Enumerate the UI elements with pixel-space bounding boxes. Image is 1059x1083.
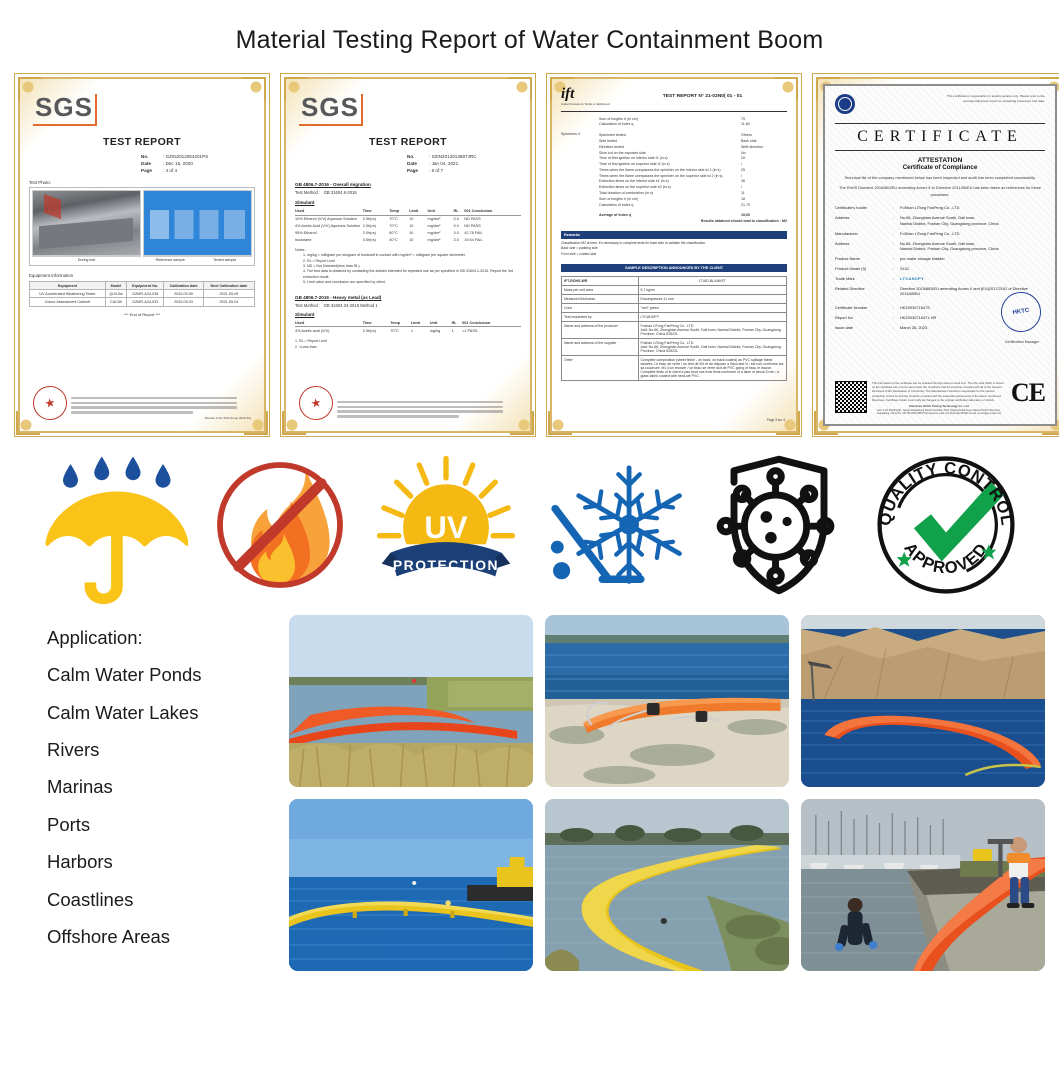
field-certificate-holder: Certificate's holder:FoShan LiTong FanPe…	[835, 205, 1045, 211]
certificate-ift-test-report[interactable]: ift Institut Francais du Textile et Habi…	[546, 73, 802, 437]
hm-r0-c6: <1 PASS	[462, 327, 521, 334]
certificate-para-2: The RoHS Directive 2015/863/EU amending …	[835, 185, 1045, 198]
mig-r0-c4: mg/dm²	[428, 215, 454, 222]
test-photo-label: Test Photo:	[29, 180, 255, 185]
feature-quality-control: QUALITY CONTROL APPROVED	[871, 455, 1021, 595]
ift-top-k1: Calculation of index q	[599, 122, 737, 126]
ift-k7: Times when the flame overpasses the spri…	[599, 174, 737, 178]
ift-v10: 11	[741, 191, 787, 195]
mig-r3-c4: mg/dm²	[428, 236, 454, 243]
hm-th-5: RL	[452, 320, 463, 327]
meta-label-no: No.	[141, 154, 163, 159]
mig-r1-c0: 4% Acetic Acid (V/V) Aqueous Solution	[295, 223, 363, 230]
hm-r0-c4: mg/kg	[430, 327, 452, 334]
certificate-ce-compliance[interactable]: This certificate is responsible for test…	[812, 73, 1059, 437]
doc-title: TEST REPORT	[295, 136, 521, 148]
migration-table: Used Time Temp Limit Unit RL 001 Conclus…	[295, 208, 521, 243]
mig-r2-c1: 2.0h(rs)	[363, 229, 389, 236]
table-row: Isooctane 0.5h(rs) 40°C 10 mg/dm² 3.0 19…	[295, 236, 521, 243]
sd-r0-c1: LT-MD-BLANKET	[638, 276, 787, 285]
ift-logo-subtitle: Institut Francais du Textile et Habillem…	[561, 103, 610, 107]
issuing-company-address: Add: 1-3/F, Building B1, Lianhe Changshe…	[872, 409, 1006, 416]
application-list: Application: Calm Water Ponds Calm Water…	[14, 615, 289, 971]
mig-r3-c3: 10	[409, 236, 427, 243]
application-item-6: Coastlines	[47, 881, 289, 918]
mig-r1-c3: 10	[409, 223, 427, 230]
sgs-logo: SGS	[299, 92, 361, 126]
mig-th-2: Temp	[389, 208, 409, 215]
ift-k4: Time of first ignition on inferior side …	[599, 156, 737, 160]
meta-label-page: Page	[141, 168, 163, 173]
equip-th-4: Next Calibration date	[203, 282, 254, 290]
sd-r3-c0: Color	[562, 303, 639, 312]
field-label: Related Directive	[835, 286, 893, 291]
ift-v9: /	[741, 185, 787, 189]
hm-th-1: Time	[363, 320, 390, 327]
mig-r3-c2: 40°C	[389, 236, 409, 243]
test-method2-value: GB 31604.34-2016 Method 1	[324, 303, 378, 308]
meta-value-page: 4 of 4	[166, 168, 178, 173]
ift-v11: 18	[741, 197, 787, 201]
ift-v5: /	[741, 162, 787, 166]
result-note: Results obtained should lead to classifi…	[701, 219, 787, 223]
notes-block: Notes : 1. mg/kg = milligram per kilogra…	[295, 248, 521, 286]
field-value: No.66, Zhongbian Avenue South, Dali town…	[900, 241, 1045, 252]
certification-manager-label: Certification Manager	[1005, 340, 1039, 344]
waterproof-icon	[38, 444, 188, 607]
photo-during-test	[32, 190, 141, 256]
mig-th-5: RL	[454, 208, 465, 215]
table-row: Test requested byLTCANOPY	[562, 312, 787, 321]
average-value: 15,60	[741, 213, 787, 217]
table-row: Name and address of the supplierFoshan L…	[562, 338, 787, 355]
certificate-sgs-test-report-2[interactable]: SGS TEST REPORT No.: SZIN2012013887JRC D…	[280, 73, 536, 437]
note-4: 4. The test data is obtained by contacti…	[303, 269, 521, 280]
equip-th-0: Equipment	[30, 282, 106, 290]
ift-k10: Total duration of combustion (in s)	[599, 191, 737, 195]
meta-value-no: GZIN2012064201PS	[166, 154, 209, 159]
mig-th-1: Time	[363, 208, 389, 215]
equip-r0-c3: 2020-09-09	[164, 290, 204, 298]
red-seal-stamp: ★	[30, 383, 69, 422]
notes2-block: 1. RL = Report Limit 2. <Less than	[295, 339, 521, 350]
mig-r0-c2: 70°C	[389, 215, 409, 222]
sd-r4-c1: LTCANOPY	[638, 312, 787, 321]
uv-text: UV	[425, 510, 468, 545]
mig-r1-c4: mg/dm²	[428, 223, 454, 230]
field-product-name: Product Name:pvc water storage bladder	[835, 256, 1045, 262]
hm-th-0: Used	[295, 320, 363, 327]
table-row: UV Accelerated Weathering Tester QUV-Be …	[30, 290, 255, 298]
field-label: Manufacturer	[835, 231, 893, 236]
fire-retardant-icon	[205, 450, 355, 600]
uv-banner-text: PROTECTION	[393, 557, 499, 573]
remarks-bar: Remarks	[561, 231, 787, 239]
table-row: 95% Ethanol 2.0h(rs) 60°C 10 mg/dm² 3.0 …	[295, 229, 521, 236]
ltcanopy-logo: LTCANOPY	[900, 276, 924, 282]
mig-r0-c6: ND PASS	[464, 215, 521, 222]
mig-r0-c0: 10% Ethanol (V/V) Aqueous Solution	[295, 215, 363, 222]
simulant-label: Simulant	[295, 200, 521, 205]
test-method-row: Test Method : GB 31604.8-2016	[295, 190, 521, 195]
sd-r5-c1: Foshan LiTong FanPeng Co., LTD Add: No.6…	[638, 321, 787, 338]
certificate-sgs-test-report-1[interactable]: SGS TEST REPORT No.: GZIN2012064201PS Da…	[14, 73, 270, 437]
ift-k3: Slow cut on the exposed side	[599, 151, 737, 155]
sd-r0-c0: IFT-ROHS-WR	[562, 276, 639, 285]
equip-th-1: Model	[105, 282, 126, 290]
sd-r3-c1: "vert" green	[638, 303, 787, 312]
application-item-3: Marinas	[47, 768, 289, 805]
red-seal-stamp: ★	[296, 383, 335, 422]
application-item-2: Rivers	[47, 731, 289, 768]
sd-r2-c1: Encompasses 11 mm	[638, 294, 787, 303]
ift-k0: Specimen tested	[599, 133, 737, 137]
mig-r2-c5: 3.0	[454, 229, 465, 236]
sd-r1-c0: Mass per unit area	[562, 285, 639, 294]
sd-r7-c1: Complete composition (sheet finish - on …	[638, 355, 787, 380]
sample-description-bar: SAMPLE DESCRIPTION ANNOUNCED BY THE CLIE…	[561, 264, 787, 272]
footer-member-note: Member of the SGS Group (SGS SA)	[71, 416, 251, 420]
photo-caption-tested: Tested sample	[198, 257, 253, 263]
equipment-label: Equipment Information	[29, 273, 255, 278]
table-row: Measured thicknessEncompasses 11 mm	[562, 294, 787, 303]
sd-r1-c1: 5,7 kg/m²	[638, 285, 787, 294]
table-row: Name and address of the producerFoshan L…	[562, 321, 787, 338]
ift-v2: Weft direction	[741, 145, 787, 149]
field-value: pvc water storage bladder	[900, 256, 1045, 262]
hm-r0-c0: 4% Acetic acid (V/V)	[295, 327, 363, 334]
doc-title: TEST REPORT	[29, 136, 255, 148]
mig-r1-c1: 2.0h(rs)	[363, 223, 389, 230]
mig-r2-c3: 10	[409, 229, 427, 236]
table-row: Mass per unit area5,7 kg/m²	[562, 285, 787, 294]
uv-protection-icon: UV PROTECTION	[371, 450, 521, 600]
feature-uv-protection: UV PROTECTION	[371, 455, 521, 595]
mig-r3-c5: 3.0	[454, 236, 465, 243]
photo-caption-during: During test	[32, 257, 141, 263]
field-value: SL01	[900, 266, 1045, 272]
remark-3: Front side = coated side	[561, 252, 787, 257]
feature-anti-bacterial	[704, 455, 854, 595]
application-section: Application: Calm Water Ponds Calm Water…	[0, 597, 1059, 971]
photo-boom-desert-coast-orange[interactable]	[801, 615, 1045, 787]
qr-code	[835, 381, 867, 413]
note-5: 5. Limit value and conclusion are specif…	[303, 280, 521, 285]
ift-v8: 36	[741, 179, 787, 183]
section-overall-migration: GB 4806.7-2016 - Overall migration	[295, 182, 521, 187]
meta-label-date: Date	[141, 161, 163, 166]
field-label: Trade Mark	[835, 276, 893, 281]
hm-r0-c3: 1	[411, 327, 430, 334]
equip-r1-c3: 2020-09-03	[164, 298, 204, 306]
hm-r0-c2: 70°C	[390, 327, 411, 334]
equip-r1-c2: GZMR-A24-033	[127, 298, 164, 306]
certificates-row: SGS TEST REPORT No.: GZIN2012064201PS Da…	[0, 55, 1059, 437]
sd-r2-c0: Measured thickness	[562, 294, 639, 303]
ce-mark-icon: CE	[1011, 381, 1045, 404]
field-value: No.66, Zhongbian Avenue South, Dali town…	[900, 215, 1045, 226]
mig-r2-c6: 42.78 FAIL	[464, 229, 521, 236]
equip-r1-c4: 2021-09-04	[203, 298, 254, 306]
table-row: 4% Acetic acid (V/V) 2.0h(rs) 70°C 1 mg/…	[295, 327, 521, 334]
equip-r1-c0: Colour Assessment Cabinet	[30, 298, 106, 306]
equip-r0-c1: QUV-Be	[105, 290, 126, 298]
equip-r0-c4: 2021-09-09	[203, 290, 254, 298]
ift-v3: No	[741, 151, 787, 155]
ift-k2: Direction tested	[599, 145, 737, 149]
equipment-table: Equipment Model Equipment No. Calibratio…	[29, 281, 255, 307]
certificate-disclaimer: This certificate is responsible for test…	[927, 94, 1045, 104]
specimen-label: Specimen 4	[561, 116, 595, 224]
certificate-heading: CERTIFICATE	[835, 123, 1045, 151]
ift-k6: Times when the flame overpasses the spri…	[599, 168, 737, 172]
photo-boom-estuary-yellow[interactable]	[545, 799, 789, 971]
application-item-0: Calm Water Ponds	[47, 656, 289, 693]
footer-fineprint: Member of the SGS Group (SGS SA)	[71, 395, 251, 420]
ift-v7: /	[741, 174, 787, 178]
field-label: Certificate's holder	[835, 205, 893, 210]
ift-k1: Side tested	[599, 139, 737, 143]
mig-r0-c3: 10	[409, 215, 427, 222]
simulant2-label: Simulant	[295, 312, 521, 317]
test-method-value: GB 31604.8-2016	[324, 190, 357, 195]
mig-th-3: Limit	[409, 208, 427, 215]
table-row: Color"vert" green	[562, 303, 787, 312]
field-label: Product Name	[835, 256, 893, 261]
field-label: Report No	[835, 315, 893, 320]
table-row: 10% Ethanol (V/V) Aqueous Solution 2.0h(…	[295, 215, 521, 222]
test-photo-group: During test Reference sample Tested samp…	[29, 187, 255, 266]
field-label: Address	[835, 241, 893, 246]
ift-k12: Calculation of index q	[599, 203, 737, 207]
mig-r1-c5: 3.0	[454, 223, 465, 230]
feature-cold-resistant	[538, 455, 688, 595]
ift-top-v1: 11,60	[741, 122, 787, 126]
application-photo-grid	[289, 615, 1045, 971]
sd-r6-c1: Foshan LiTong FanPeng Co., LTD Add: No.6…	[638, 338, 787, 355]
application-item-4: Ports	[47, 806, 289, 843]
application-item-5: Harbors	[47, 843, 289, 880]
ift-v4: 29	[741, 156, 787, 160]
feature-fire-retardant	[205, 455, 355, 595]
field-label: Address	[835, 215, 893, 220]
quality-control-approved-icon: QUALITY CONTROL APPROVED	[871, 450, 1021, 600]
equip-r1-c1: CAC60	[105, 298, 126, 306]
mig-r0-c1: 2.0h(rs)	[363, 215, 389, 222]
ift-k8: Extinction times on the inferior side e1…	[599, 179, 737, 183]
photo-samples	[143, 190, 252, 256]
equip-th-2: Equipment No.	[127, 282, 164, 290]
certificate-legal-text: The information of the certificate can b…	[872, 381, 1006, 403]
photo-caption-reference: Reference sample	[143, 257, 198, 263]
meta-value-no: SZIN2012013887JRC	[432, 154, 477, 159]
hm-th-4: Unit	[430, 320, 452, 327]
mig-r0-c5: 3.0	[454, 215, 465, 222]
field-value: FoShan LiTong FanPeng Co. ,LTD	[900, 205, 1045, 211]
hm-th-2: Temp	[390, 320, 411, 327]
test-method-label: Test Method :	[295, 190, 320, 195]
hm-th-3: Limit	[411, 320, 430, 327]
ift-logo: ift	[561, 86, 610, 103]
feature-waterproof	[38, 455, 188, 595]
field-address-1: Address:No.66, Zhongbian Avenue South, D…	[835, 215, 1045, 226]
meta-value-page: 6 of 7	[432, 168, 444, 173]
footer-fineprint	[337, 399, 517, 420]
photo-boom-marina-deployment[interactable]	[801, 799, 1045, 971]
mig-r3-c0: Isooctane	[295, 236, 363, 243]
hm-th-6: 001 Conclusion	[462, 320, 521, 327]
compliance-label: Certificate of Compliance	[835, 164, 1045, 171]
field-label: Product Model (S)	[835, 266, 893, 271]
sd-r7-c0: Other	[562, 355, 639, 380]
ift-k5: Time of first ignition on superior side …	[599, 162, 737, 166]
test-method2-label: Test Method :	[295, 303, 320, 308]
field-value: FoShan LiTong FanPeng Co. ,LTD	[900, 231, 1045, 237]
field-product-model: Product Model (S):SL01	[835, 266, 1045, 272]
sgs-logo: SGS	[33, 92, 95, 126]
end-of-report: *** End of Report ***	[29, 312, 255, 317]
meta-value-date: Dec 15, 2020	[166, 161, 193, 166]
application-heading: Application:	[47, 619, 289, 656]
doc-title: TEST REPORT N° 21-02N0( 01 - 01	[618, 94, 787, 99]
heavy-metal-table: Used Time Temp Limit Unit RL 001 Conclus…	[295, 320, 521, 335]
doc-meta: No.: GZIN2012064201PS Date: Dec 15, 2020…	[29, 154, 255, 173]
field-label: Certificate Number	[835, 305, 893, 310]
page-title: Material Testing Report of Water Contain…	[0, 0, 1059, 55]
ift-k9: Extinction times on the superior side e2…	[599, 185, 737, 189]
test-method2-row: Test Method : GB 31604.34-2016 Method 1	[295, 303, 521, 308]
certificate-para-1: Technical file of the company mentioned …	[835, 175, 1045, 181]
mig-r3-c1: 0.5h(rs)	[363, 236, 389, 243]
application-item-7: Offshore Areas	[47, 918, 289, 955]
mig-th-0: Used	[295, 208, 363, 215]
doc-meta: No.: SZIN2012013887JRC Date: Jan 04, 202…	[295, 154, 521, 173]
ift-top-v0: 79	[741, 117, 787, 121]
table-row: IFT-ROHS-WR LT-MD-BLANKET	[562, 276, 787, 285]
sd-r6-c0: Name and address of the supplier	[562, 338, 639, 355]
ift-k11: Sum of lengths h (in cm)	[599, 197, 737, 201]
hm-r0-c5: 1	[452, 327, 463, 334]
feature-icons-row: UV PROTECTION	[0, 437, 1059, 597]
ift-v12: 21,70	[741, 203, 787, 207]
ift-v0: Others	[741, 133, 787, 137]
field-label: Issue date	[835, 325, 893, 330]
cold-resistant-icon	[538, 455, 688, 594]
mig-r3-c6: 19.54 FAIL	[464, 236, 521, 243]
field-trade-mark: Trade Mark: LTCANOPY	[835, 276, 1045, 282]
average-label: Average of index q	[599, 213, 737, 217]
equip-r0-c2: GZMR-A24-038	[127, 290, 164, 298]
doc-footer: ★ Member of the SGS Group (SGS SA)	[33, 386, 251, 420]
mig-r2-c0: 95% Ethanol	[295, 229, 363, 236]
section-heavy-metal: GB 4806.7-2016 - Heavy metal (as Lead)	[295, 295, 521, 300]
ift-v1: Back side	[741, 139, 787, 143]
product-detail-page: Material Testing Report of Water Contain…	[0, 0, 1059, 1083]
sd-r4-c0: Test requested by	[562, 312, 639, 321]
ift-v6: 25	[741, 168, 787, 172]
field-manufacturer: Manufacturer:FoShan LiTong FanPeng Co. ,…	[835, 231, 1045, 237]
sample-description-table: IFT-ROHS-WR LT-MD-BLANKET Mass per unit …	[561, 276, 787, 381]
mig-r2-c2: 60°C	[389, 229, 409, 236]
meta-label-date: Date	[407, 161, 429, 166]
page-note: Page 3 sur 4	[767, 418, 785, 422]
field-address-2: Address:No.66, Zhongbian Avenue South, D…	[835, 241, 1045, 252]
photo-boom-beach-orange[interactable]	[545, 615, 789, 787]
photo-boom-marsh-orange[interactable]	[289, 615, 533, 787]
meta-label-page: Page	[407, 168, 429, 173]
attestation-label: ATTESTATION	[835, 157, 1045, 164]
anti-bacterial-shield-icon	[704, 450, 854, 600]
sd-r5-c0: Name and address of the producer	[562, 321, 639, 338]
table-row: 4% Acetic Acid (V/V) Aqueous Solution 2.…	[295, 223, 521, 230]
mig-r1-c6: ND PASS	[464, 223, 521, 230]
table-row: Colour Assessment Cabinet CAC60 GZMR-A24…	[30, 298, 255, 306]
table-row: OtherComplete composition (sheet finish …	[562, 355, 787, 380]
certifier-emblem-icon	[835, 94, 855, 114]
ift-top-k0: Sum of lengths h (in cm)	[599, 117, 737, 121]
doc-footer: ★	[299, 386, 517, 420]
mig-r2-c4: mg/dm²	[428, 229, 454, 236]
meta-value-date: Jan 04, 2021	[432, 161, 459, 166]
equip-th-3: Calibration date	[164, 282, 204, 290]
photo-boom-open-sea-yellow[interactable]	[289, 799, 533, 971]
mig-r1-c2: 70°C	[389, 223, 409, 230]
mig-th-6: 001 Conclusion	[464, 208, 521, 215]
note2-2: 2. <Less than	[295, 345, 521, 350]
hm-r0-c1: 2.0h(rs)	[363, 327, 390, 334]
mig-th-4: Unit	[428, 208, 454, 215]
equip-r0-c0: UV Accelerated Weathering Tester	[30, 290, 106, 298]
application-item-1: Calm Water Lakes	[47, 694, 289, 731]
meta-label-no: No.	[407, 154, 429, 159]
